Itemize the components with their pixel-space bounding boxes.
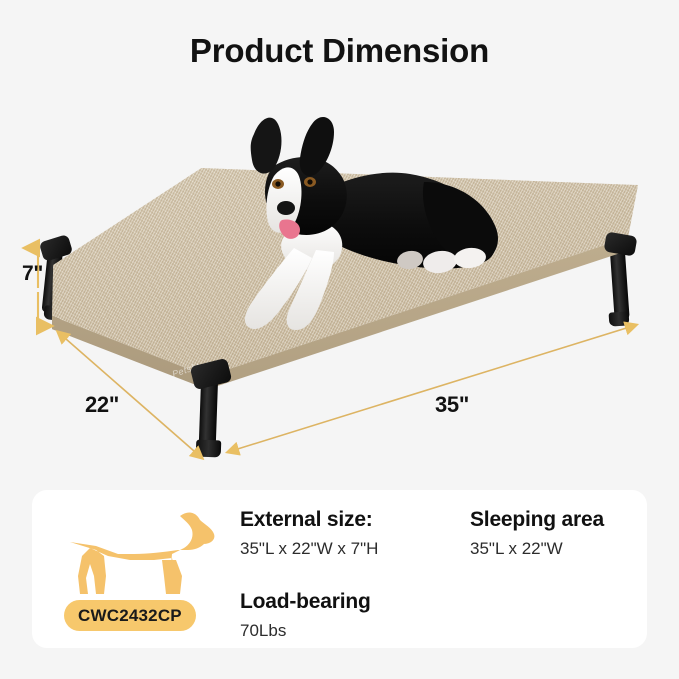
load-bearing-value: 70Lbs <box>240 621 371 641</box>
dog-silhouette-icon <box>60 502 220 602</box>
sku-badge: CWC2432CP <box>64 600 196 631</box>
load-bearing-heading: Load-bearing <box>240 590 371 614</box>
depth-dimension-label: 22" <box>85 392 119 418</box>
length-dimension-label: 35" <box>435 392 469 418</box>
specification-card: CWC2432CP External size: 35"L x 22"W x 7… <box>32 490 647 648</box>
sleeping-area-value: 35"L x 22"W <box>470 539 604 559</box>
external-size-value: 35"L x 22"W x 7"H <box>240 539 378 559</box>
sleeping-area-heading: Sleeping area <box>470 508 604 532</box>
load-bearing-block: Load-bearing 70Lbs <box>240 590 371 641</box>
page-title: Product Dimension <box>0 32 679 70</box>
sleeping-area-block: Sleeping area 35"L x 22"W <box>470 508 604 559</box>
dog-photo <box>178 90 518 330</box>
bed-foot-rear-right <box>609 311 630 326</box>
height-dimension-label: 7" <box>22 262 43 286</box>
external-size-block: External size: 35"L x 22"W x 7"H <box>240 508 378 559</box>
product-illustration: Petsfit <box>0 90 679 480</box>
external-size-heading: External size: <box>240 508 378 532</box>
bed-foot-front-left <box>196 440 222 458</box>
